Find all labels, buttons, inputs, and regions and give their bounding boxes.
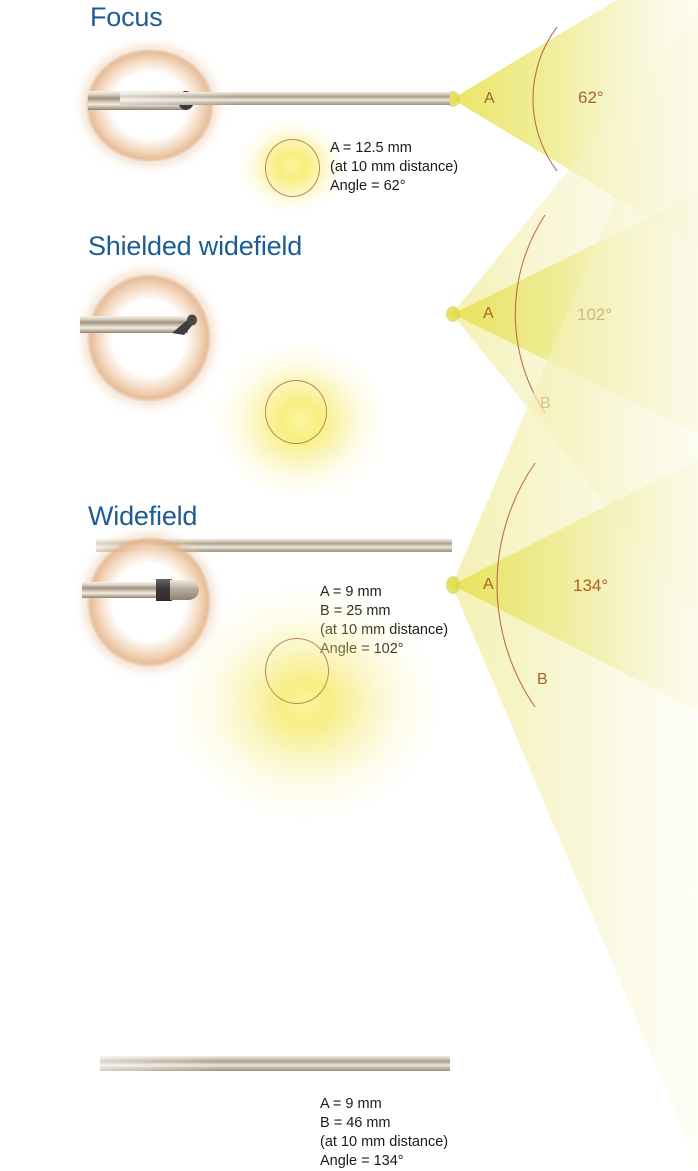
distance-arc [533, 27, 557, 171]
spec-text-block: A = 9 mm B = 46 mm (at 10 mm distance) A… [320, 1095, 448, 1171]
spec-line: Angle = 62° [330, 177, 458, 196]
spec-line: B = 46 mm [320, 1114, 448, 1133]
distance-arc [515, 215, 545, 413]
panel-focus: Focus [0, 0, 698, 225]
angle-label: 134° [573, 576, 608, 596]
fiber-shaft [120, 92, 450, 105]
angle-label: 62° [578, 88, 604, 108]
spec-line: (at 10 mm distance) [330, 158, 458, 177]
angle-label: 102° [577, 305, 612, 325]
cone-zone-a [452, 0, 698, 247]
dome-cap [170, 580, 199, 600]
panel-title: Shielded widefield [88, 231, 302, 262]
panel-title: Focus [90, 2, 163, 33]
fiber-tip-beveled [80, 303, 210, 347]
beam-spot-outline [265, 380, 327, 444]
beam-spot-glow [170, 583, 442, 833]
emitter-dot [446, 576, 460, 594]
panel-shielded-widefield: Shielded widefield [0, 225, 698, 473]
emitter-dot [446, 306, 460, 322]
spec-line: Angle = 134° [320, 1152, 448, 1171]
zone-b-label: B [540, 395, 551, 413]
beam-spot-outline [265, 638, 329, 704]
spec-line: (at 10 mm distance) [320, 1133, 448, 1152]
fiber-tip-domed [82, 568, 214, 612]
zone-a-label: A [483, 305, 494, 323]
zone-b-label: B [537, 671, 548, 689]
dark-collar [156, 579, 172, 601]
spec-text-block: A = 12.5 mm (at 10 mm distance) Angle = … [330, 139, 458, 196]
spec-line: A = 9 mm [320, 1095, 448, 1114]
panel-title: Widefield [88, 501, 197, 532]
fiber-shaft [100, 1056, 450, 1071]
zone-a-label: A [483, 576, 494, 594]
zone-a-label: A [484, 90, 495, 108]
distance-arc [497, 463, 535, 707]
spec-line: A = 12.5 mm [330, 139, 458, 158]
panel-widefield: Widefield [0, 473, 698, 729]
beam-spot-outline [265, 139, 320, 197]
